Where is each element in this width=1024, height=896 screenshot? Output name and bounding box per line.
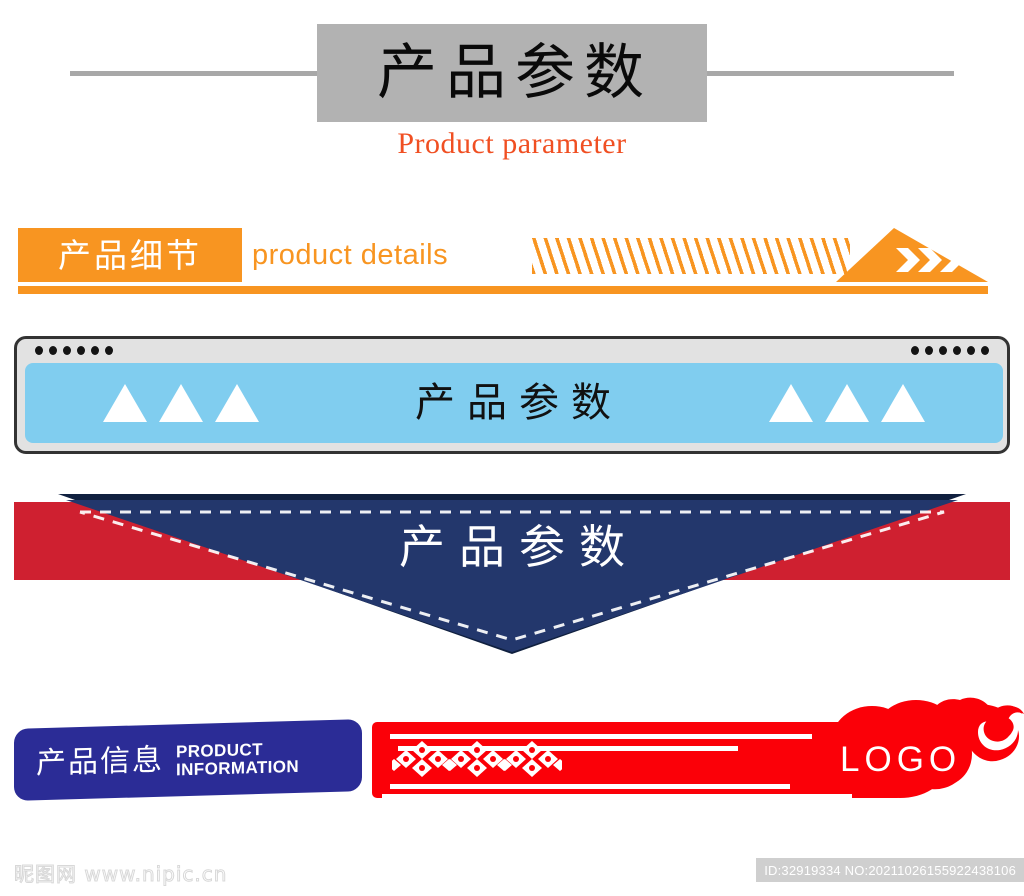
diagonal-stripes-decoration bbox=[532, 238, 850, 274]
dot-icon bbox=[981, 346, 989, 355]
info-title-cn: 产品信息 bbox=[36, 746, 164, 780]
hexagon-rule-right bbox=[689, 71, 954, 76]
dot-icon bbox=[925, 346, 933, 355]
dot-icon bbox=[91, 346, 99, 355]
dot-icon bbox=[35, 346, 43, 355]
dot-icon bbox=[967, 346, 975, 355]
dot-icon bbox=[63, 346, 71, 355]
logo-text: LOGO bbox=[840, 742, 961, 777]
details-title-cn: 产品细节 bbox=[58, 239, 202, 272]
hexagon-plate: 产品参数 bbox=[317, 24, 707, 122]
hexagon-rule-left bbox=[70, 71, 335, 76]
bandana-title-cn: 产品参数 bbox=[14, 524, 1010, 570]
details-underline-bar bbox=[18, 286, 988, 294]
details-label-box: 产品细节 bbox=[18, 228, 242, 282]
arrow-wedge-decoration bbox=[836, 228, 988, 282]
triangle-icon bbox=[825, 384, 869, 422]
info-title-en: PRODUCT INFORMATION bbox=[176, 738, 299, 780]
dot-icon bbox=[105, 346, 113, 355]
hexagon-title-cn: 产品参数 bbox=[371, 43, 653, 103]
arrow-wedge-icon bbox=[836, 228, 988, 282]
dot-icon bbox=[49, 346, 57, 355]
red-bar-rule-bottom2 bbox=[382, 794, 852, 799]
details-title-en: product details bbox=[252, 239, 448, 272]
banner-blue-panel: 产品参数 bbox=[14, 336, 1010, 454]
banner-product-details: 产品细节 product details bbox=[0, 228, 1024, 302]
triangles-decoration-right bbox=[769, 384, 925, 422]
dot-icon bbox=[939, 346, 947, 355]
banner-bandana: 产品参数 bbox=[14, 480, 1010, 650]
chinese-knot-icon bbox=[392, 741, 457, 777]
chinese-knot-decorations bbox=[392, 739, 562, 785]
info-title-en-line2: INFORMATION bbox=[176, 758, 299, 780]
hexagon-subtitle-en: Product parameter bbox=[397, 127, 626, 161]
chinese-knot-icon bbox=[497, 741, 562, 777]
dot-icon bbox=[953, 346, 961, 355]
info-tag-content: 产品信息 PRODUCT INFORMATION bbox=[14, 719, 362, 801]
triangles-decoration-left bbox=[103, 384, 259, 422]
triangle-icon bbox=[103, 384, 147, 422]
dots-decoration-left bbox=[35, 346, 113, 355]
triangle-icon bbox=[215, 384, 259, 422]
dots-decoration-right bbox=[911, 346, 989, 355]
site-watermark: 昵图网 www.nipic.cn bbox=[14, 858, 227, 887]
triangle-icon bbox=[769, 384, 813, 422]
triangle-icon bbox=[881, 384, 925, 422]
dot-icon bbox=[911, 346, 919, 355]
blue-panel-title-cn: 产品参数 bbox=[405, 383, 623, 423]
dot-icon bbox=[77, 346, 85, 355]
banner-hexagon: 产品参数 Product parameter bbox=[0, 0, 1024, 180]
poster-canvas: 产品参数 Product parameter 产品细节 product deta… bbox=[0, 0, 1024, 896]
triangle-icon bbox=[159, 384, 203, 422]
blue-panel-inner: 产品参数 bbox=[25, 363, 1003, 443]
asset-id-badge: ID:32919334 NO:20211026155922438106 bbox=[756, 858, 1024, 882]
chinese-knot-icon bbox=[442, 741, 512, 777]
